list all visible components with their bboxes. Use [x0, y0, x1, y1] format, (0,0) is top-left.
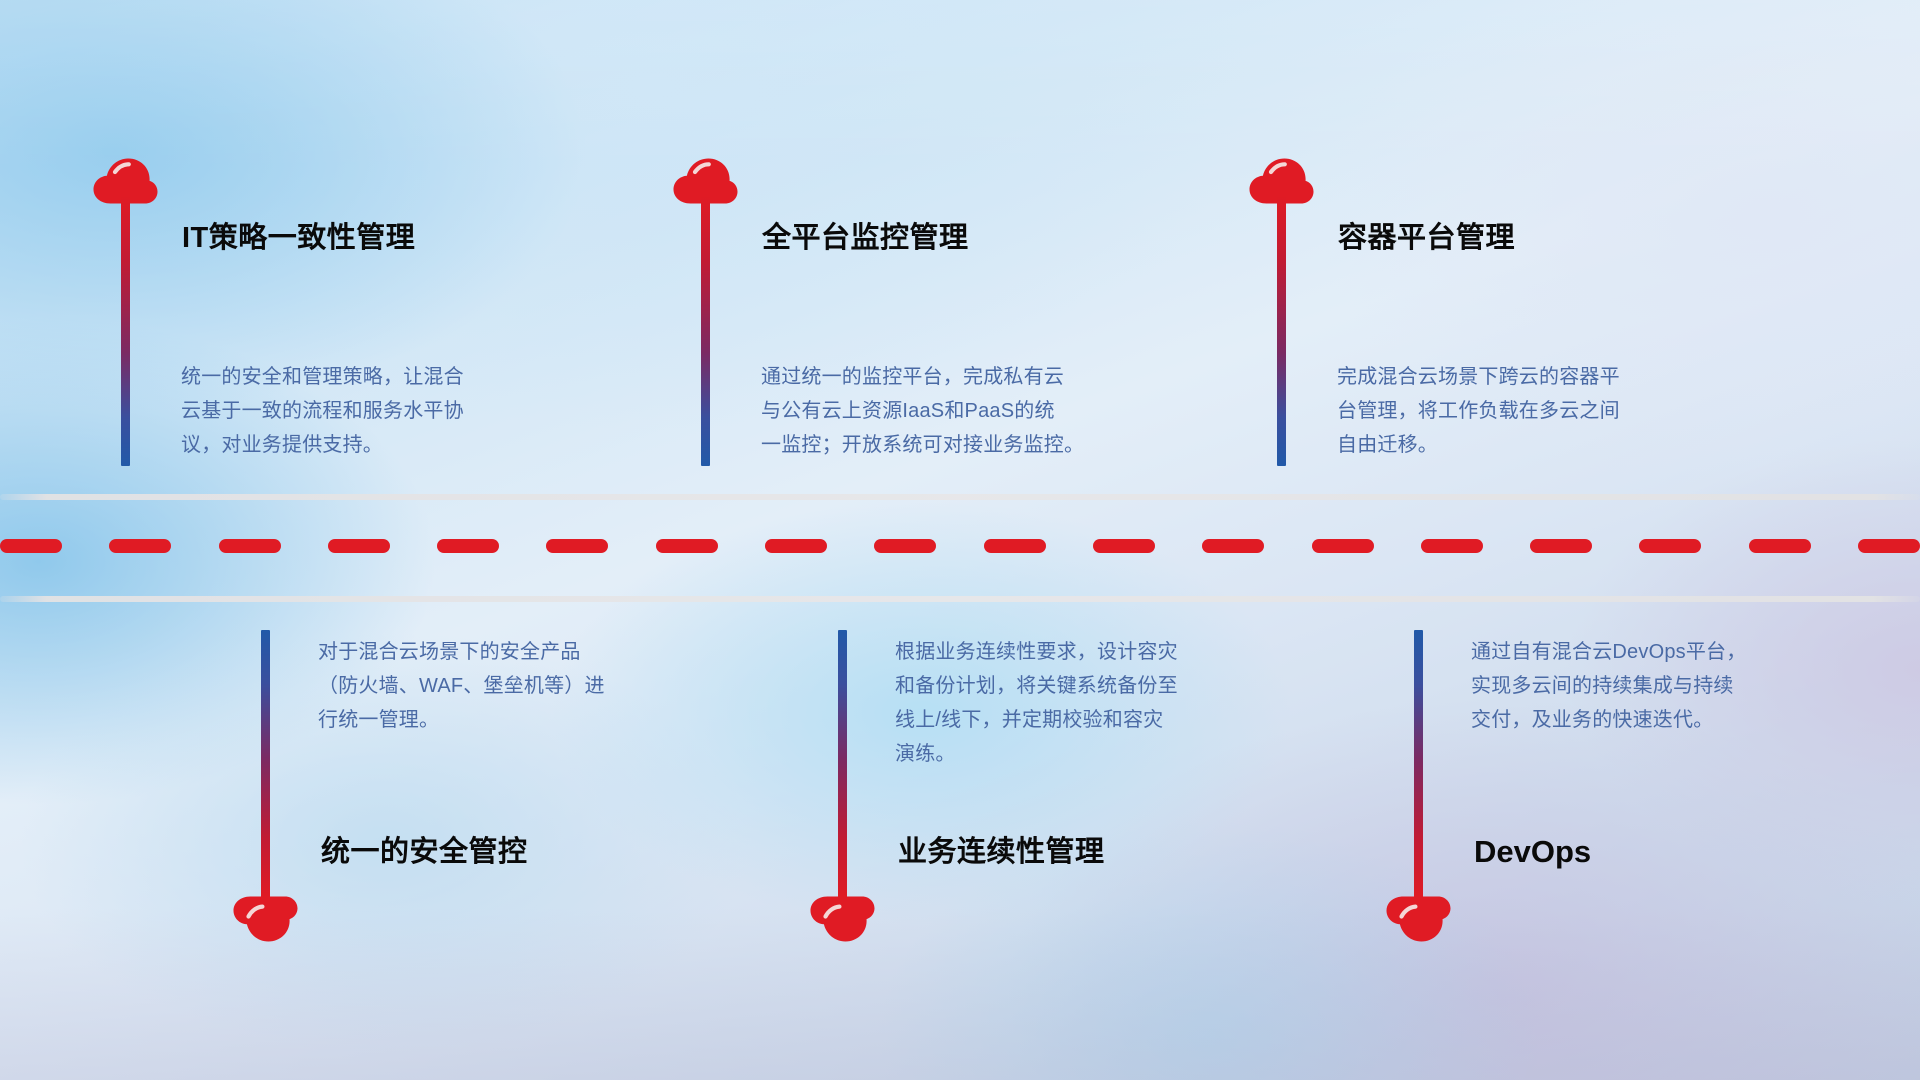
road-line-top	[0, 494, 1920, 500]
road-dash	[1639, 539, 1701, 553]
cloud-icon	[232, 896, 298, 942]
road-dash	[328, 539, 390, 553]
cloud-icon	[1385, 896, 1451, 942]
road-dash	[984, 539, 1046, 553]
card-body: 统一的安全和管理策略，让混合 云基于一致的流程和服务水平协 议，对业务提供支持。	[181, 360, 611, 462]
road-dash	[874, 539, 936, 553]
card-heading: 统一的安全管控	[321, 838, 528, 867]
road-dash	[219, 539, 281, 553]
card-heading: IT策略一致性管理	[182, 224, 415, 253]
road-dash	[656, 539, 718, 553]
card-heading: 容器平台管理	[1338, 224, 1515, 253]
road-dash	[1202, 539, 1264, 553]
road-line-bottom	[0, 596, 1920, 602]
road-dash	[1530, 539, 1592, 553]
cloud-icon	[809, 896, 875, 942]
connector-stem	[838, 630, 847, 898]
road-dash	[1858, 539, 1920, 553]
connector-stem	[1277, 196, 1286, 466]
road-dash	[765, 539, 827, 553]
connector-stem	[261, 630, 270, 898]
road-dash	[0, 539, 62, 553]
road-dashed-centerline	[0, 539, 1920, 553]
card-heading: 业务连续性管理	[898, 838, 1105, 867]
connector-stem	[121, 196, 130, 466]
connector-stem	[701, 196, 710, 466]
road-dash	[437, 539, 499, 553]
road-dash	[1421, 539, 1483, 553]
connector-stem	[1414, 630, 1423, 898]
card-body: 对于混合云场景下的安全产品 （防火墙、WAF、堡垒机等）进 行统一管理。	[318, 635, 748, 737]
card-heading: 全平台监控管理	[762, 224, 969, 253]
card-body: 通过自有混合云DevOps平台， 实现多云间的持续集成与持续 交付，及业务的快速…	[1471, 635, 1871, 737]
card-heading: DevOps	[1474, 836, 1591, 867]
card-body: 完成混合云场景下跨云的容器平 台管理，将工作负载在多云之间 自由迁移。	[1337, 360, 1777, 462]
road-dash	[546, 539, 608, 553]
card-body: 通过统一的监控平台，完成私有云 与公有云上资源IaaS和PaaS的统 一监控；开…	[761, 360, 1231, 462]
card-body: 根据业务连续性要求，设计容灾 和备份计划，将关键系统备份至 线上/线下，并定期校…	[895, 635, 1325, 771]
road-dash	[1312, 539, 1374, 553]
road-dash	[1749, 539, 1811, 553]
road-dash	[109, 539, 171, 553]
road-dash	[1093, 539, 1155, 553]
infographic-canvas: IT策略一致性管理 统一的安全和管理策略，让混合 云基于一致的流程和服务水平协 …	[0, 0, 1920, 1080]
